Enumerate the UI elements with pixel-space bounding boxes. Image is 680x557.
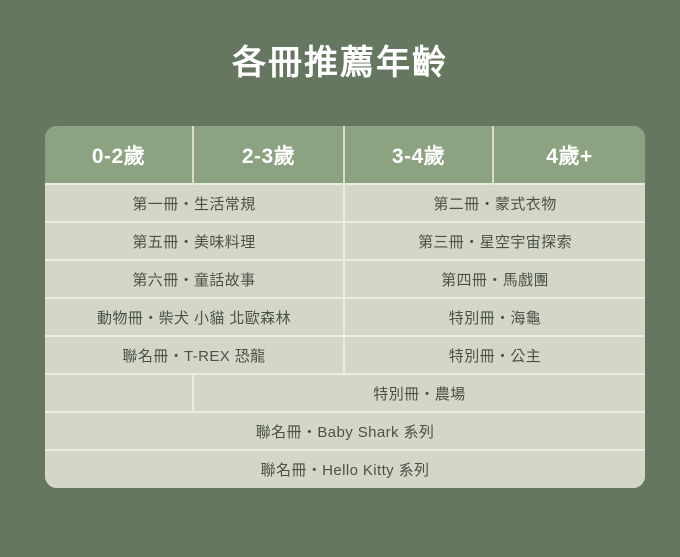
page-root: 各冊推薦年齡 0-2歲2-3歲3-4歲4歲+ 第一冊・生活常規第二冊・蒙式衣物第…	[0, 0, 680, 557]
table-cell-text: 第二冊・蒙式衣物	[433, 196, 556, 213]
age-recommendation-table: 0-2歲2-3歲3-4歲4歲+ 第一冊・生活常規第二冊・蒙式衣物第五冊・美味料理…	[45, 126, 645, 488]
column-header-age-4-plus: 4歲+	[493, 126, 645, 184]
page-title: 各冊推薦年齡	[232, 46, 448, 80]
title-container: 各冊推薦年齡	[0, 0, 680, 126]
table-cell-text: 第五冊・美味料理	[132, 234, 255, 251]
table-row: 聯名冊・Baby Shark 系列	[45, 412, 645, 450]
table-cell-text: 第一冊・生活常規	[132, 196, 255, 213]
table-cell: 第五冊・美味料理	[45, 222, 344, 260]
column-header-age-2-3: 2-3歲	[193, 126, 344, 184]
table-cell-text: 聯名冊・T-REX 恐龍	[122, 348, 265, 365]
column-header-label: 4歲+	[546, 145, 592, 168]
table-cell: 聯名冊・Hello Kitty 系列	[45, 450, 645, 488]
table-row: 第五冊・美味料理第三冊・星空宇宙探索	[45, 222, 645, 260]
table-cell: 第二冊・蒙式衣物	[344, 184, 645, 222]
table-cell-text: 第三冊・星空宇宙探索	[418, 234, 572, 251]
table-cell: 特別冊・農場	[193, 374, 645, 412]
column-header-age-3-4: 3-4歲	[344, 126, 493, 184]
table-body: 第一冊・生活常規第二冊・蒙式衣物第五冊・美味料理第三冊・星空宇宙探索第六冊・童話…	[45, 184, 645, 488]
table-cell-empty	[45, 374, 193, 412]
table-cell: 動物冊・柴犬 小貓 北歐森林	[45, 298, 344, 336]
table-cell-text: 特別冊・公主	[449, 348, 541, 365]
table-cell: 特別冊・海龜	[344, 298, 645, 336]
table-cell-text: 特別冊・農場	[373, 386, 465, 403]
table-cell-text: 動物冊・柴犬 小貓 北歐森林	[97, 310, 291, 327]
table-cell: 第三冊・星空宇宙探索	[344, 222, 645, 260]
column-header-age-0-2: 0-2歲	[45, 126, 193, 184]
table-cell: 第四冊・馬戲團	[344, 260, 645, 298]
table-cell: 第一冊・生活常規	[45, 184, 344, 222]
table-cell-text: 第六冊・童話故事	[132, 272, 255, 289]
column-header-label: 2-3歲	[242, 145, 295, 168]
table-cell: 第六冊・童話故事	[45, 260, 344, 298]
table-cell: 特別冊・公主	[344, 336, 645, 374]
table-row: 特別冊・農場	[45, 374, 645, 412]
table-row: 聯名冊・T-REX 恐龍特別冊・公主	[45, 336, 645, 374]
column-header-label: 3-4歲	[392, 145, 445, 168]
table-cell: 聯名冊・T-REX 恐龍	[45, 336, 344, 374]
table-header: 0-2歲2-3歲3-4歲4歲+	[45, 126, 645, 184]
column-header-label: 0-2歲	[92, 145, 145, 168]
table-cell-text: 聯名冊・Hello Kitty 系列	[261, 462, 430, 479]
table-row: 動物冊・柴犬 小貓 北歐森林特別冊・海龜	[45, 298, 645, 336]
table-row: 第六冊・童話故事第四冊・馬戲團	[45, 260, 645, 298]
age-recommendation-table-card: 0-2歲2-3歲3-4歲4歲+ 第一冊・生活常規第二冊・蒙式衣物第五冊・美味料理…	[45, 126, 645, 488]
table-row: 聯名冊・Hello Kitty 系列	[45, 450, 645, 488]
table-row: 第一冊・生活常規第二冊・蒙式衣物	[45, 184, 645, 222]
table-cell-text: 特別冊・海龜	[449, 310, 541, 327]
table-cell-text: 聯名冊・Baby Shark 系列	[256, 424, 435, 441]
table-cell-text: 第四冊・馬戲團	[441, 272, 549, 289]
table-cell: 聯名冊・Baby Shark 系列	[45, 412, 645, 450]
table-header-row: 0-2歲2-3歲3-4歲4歲+	[45, 126, 645, 184]
